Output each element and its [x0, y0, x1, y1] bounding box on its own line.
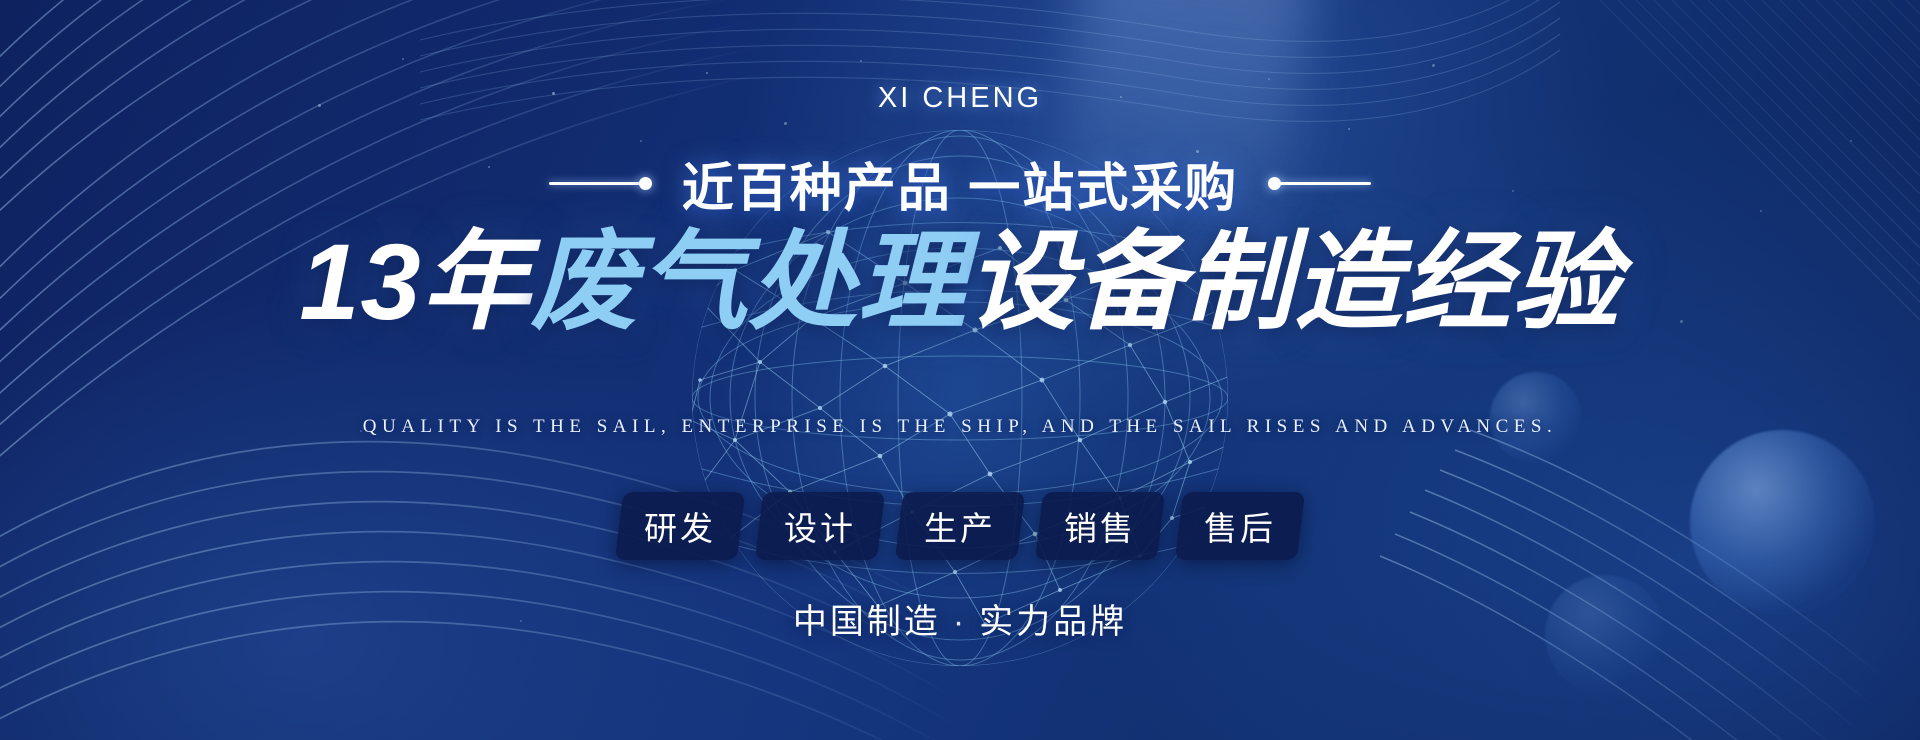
- footnote-right: 实力品牌: [979, 603, 1127, 641]
- ornament-bar: [549, 182, 641, 185]
- pill-production[interactable]: 生产: [895, 492, 1025, 560]
- ornament-bar: [1279, 182, 1371, 185]
- headline-part-years: 13年: [299, 221, 530, 342]
- ornament-dot: [639, 177, 652, 190]
- brand-latin-name: XI CHENG: [0, 82, 1920, 115]
- pill-label: 设计: [784, 502, 856, 550]
- pill-sales[interactable]: 销售: [1035, 492, 1165, 560]
- banner-content: XI CHENG 近百种产品 一站式采购 13年废气处理设备制造经验 QUALI…: [0, 0, 1920, 740]
- pill-rd[interactable]: 研发: [615, 492, 745, 560]
- footnote: 中国制造·实力品牌: [0, 594, 1920, 643]
- service-pill-row: 研发 设计 生产 销售 售后: [0, 492, 1920, 560]
- subtitle-row: 近百种产品 一站式采购: [0, 146, 1920, 221]
- english-tagline: QUALITY IS THE SAIL, ENTERPRISE IS THE S…: [0, 416, 1920, 438]
- headline: 13年废气处理设备制造经验: [0, 222, 1920, 343]
- pill-after-sales[interactable]: 售后: [1175, 492, 1305, 560]
- pill-label: 销售: [1064, 502, 1136, 550]
- pill-label: 研发: [644, 502, 716, 550]
- footnote-separator-icon: ·: [941, 603, 979, 641]
- headline-part-highlight: 废气处理: [531, 221, 967, 342]
- subtitle-text: 近百种产品 一站式采购: [682, 146, 1238, 221]
- headline-part-tail: 设备制造经验: [967, 221, 1621, 342]
- ornament-left-icon: [549, 177, 652, 190]
- pill-label: 生产: [924, 502, 996, 550]
- pill-label: 售后: [1204, 502, 1276, 550]
- ornament-right-icon: [1268, 177, 1371, 190]
- hero-banner: XI CHENG 近百种产品 一站式采购 13年废气处理设备制造经验 QUALI…: [0, 0, 1920, 740]
- pill-design[interactable]: 设计: [755, 492, 885, 560]
- footnote-left: 中国制造: [793, 603, 941, 641]
